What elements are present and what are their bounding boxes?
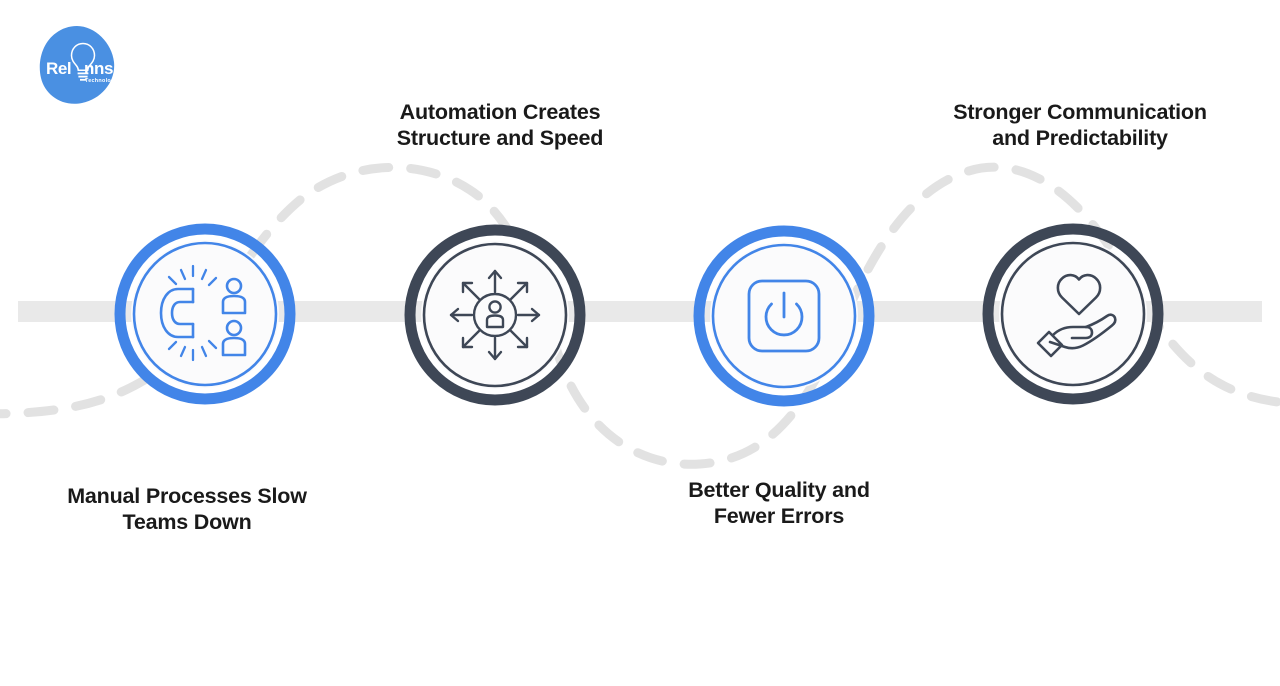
step-4-caption: Stronger Communication and Predictabilit… (930, 99, 1230, 151)
step-1-inner-disc (131, 240, 279, 388)
step-3-caption: Better Quality and Fewer Errors (649, 477, 909, 529)
infographic-canvas: Rel nns Technologies (0, 0, 1280, 686)
step-4-node[interactable] (982, 223, 1164, 405)
step-3-node[interactable] (693, 225, 875, 407)
step-1-caption: Manual Processes Slow Teams Down (47, 483, 327, 535)
step-2-caption: Automation Creates Structure and Speed (355, 99, 645, 151)
person-radiating-arrows-icon (451, 271, 539, 359)
step-2-node[interactable] (404, 224, 586, 406)
step-4-inner-disc (999, 240, 1147, 388)
step-1-node[interactable] (114, 223, 296, 405)
